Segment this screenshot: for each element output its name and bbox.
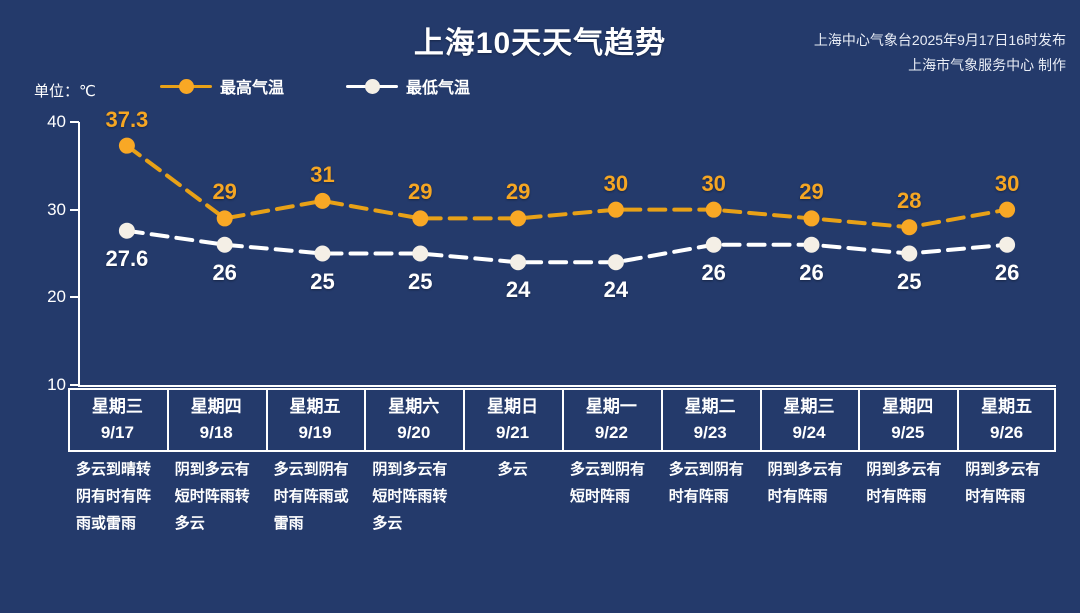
forecast-table-top-edge bbox=[68, 388, 1056, 390]
low-temp-line bbox=[127, 231, 1007, 263]
high-temp-value-label: 28 bbox=[897, 188, 921, 214]
low-temp-point bbox=[510, 254, 526, 270]
forecast-date: 9/24 bbox=[760, 420, 859, 446]
series-lines bbox=[0, 105, 1080, 405]
forecast-date: 9/18 bbox=[167, 420, 266, 446]
high-temp-point bbox=[608, 202, 624, 218]
forecast-description: 多云到阴有短时阵雨 bbox=[562, 456, 661, 510]
plot-area: 40302010 37.329312929303029283027.626252… bbox=[0, 105, 1080, 405]
low-temp-point bbox=[608, 254, 624, 270]
forecast-column-divider bbox=[562, 388, 564, 450]
publisher-producer-line: 上海市气象服务中心 制作 bbox=[814, 53, 1066, 78]
forecast-weekday: 星期三 bbox=[760, 394, 859, 420]
high-temp-line bbox=[127, 146, 1007, 228]
low-temp-point bbox=[901, 246, 917, 262]
high-temp-value-label: 31 bbox=[310, 162, 334, 188]
low-temp-value-label: 26 bbox=[799, 260, 823, 286]
forecast-column: 星期五9/26阴到多云有时有阵雨 bbox=[957, 388, 1056, 578]
forecast-column: 星期四9/18阴到多云有短时阵雨转多云 bbox=[167, 388, 266, 578]
low-temp-point bbox=[999, 237, 1015, 253]
forecast-description: 阴到多云有时有阵雨 bbox=[858, 456, 957, 510]
high-temp-value-label: 29 bbox=[799, 179, 823, 205]
legend-marker-high-icon bbox=[160, 78, 212, 94]
low-temp-value-label: 25 bbox=[897, 269, 921, 295]
forecast-date: 9/23 bbox=[661, 420, 760, 446]
legend-label-high: 最高气温 bbox=[220, 74, 284, 98]
forecast-date: 9/26 bbox=[957, 420, 1056, 446]
forecast-date: 9/25 bbox=[858, 420, 957, 446]
forecast-column: 星期五9/19多云到阴有时有阵雨或雷雨 bbox=[266, 388, 365, 578]
forecast-date: 9/17 bbox=[68, 420, 167, 446]
unit-label: 单位：℃ bbox=[34, 80, 96, 101]
high-temp-point bbox=[315, 193, 331, 209]
forecast-weekday: 星期日 bbox=[463, 394, 562, 420]
forecast-description: 多云到阴有时有阵雨或雷雨 bbox=[266, 456, 365, 537]
low-temp-point bbox=[412, 246, 428, 262]
high-temp-point bbox=[217, 210, 233, 226]
low-temp-value-label: 26 bbox=[701, 260, 725, 286]
forecast-column-divider bbox=[167, 388, 169, 450]
forecast-table: 星期三9/17多云到晴转阴有时有阵雨或雷雨星期四9/18阴到多云有短时阵雨转多云… bbox=[68, 388, 1056, 578]
forecast-table-header-bottom-edge bbox=[68, 450, 1056, 452]
forecast-weekday: 星期五 bbox=[266, 394, 365, 420]
forecast-column: 星期六9/20阴到多云有短时阵雨转多云 bbox=[364, 388, 463, 578]
forecast-description: 多云到阴有时有阵雨 bbox=[661, 456, 760, 510]
legend-item-high: 最高气温 bbox=[160, 74, 284, 98]
forecast-column-divider bbox=[463, 388, 465, 450]
high-temp-value-label: 30 bbox=[995, 171, 1019, 197]
forecast-weekday: 星期二 bbox=[661, 394, 760, 420]
forecast-column-divider bbox=[68, 388, 70, 450]
low-temp-value-label: 27.6 bbox=[105, 246, 148, 272]
publisher-info: 上海中心气象台2025年9月17日16时发布 上海市气象服务中心 制作 bbox=[814, 28, 1066, 78]
low-temp-value-label: 25 bbox=[310, 269, 334, 295]
forecast-column-divider bbox=[364, 388, 366, 450]
low-temp-value-label: 26 bbox=[212, 260, 236, 286]
forecast-column: 星期三9/17多云到晴转阴有时有阵雨或雷雨 bbox=[68, 388, 167, 578]
high-temp-point bbox=[804, 210, 820, 226]
forecast-column-divider bbox=[661, 388, 663, 450]
legend-item-low: 最低气温 bbox=[346, 74, 470, 98]
high-temp-point bbox=[510, 210, 526, 226]
high-temp-point bbox=[412, 210, 428, 226]
forecast-description: 多云到晴转阴有时有阵雨或雷雨 bbox=[68, 456, 167, 537]
forecast-description: 多云 bbox=[463, 456, 562, 483]
forecast-description: 阴到多云有时有阵雨 bbox=[957, 456, 1056, 510]
low-temp-value-label: 24 bbox=[604, 277, 628, 303]
publisher-issue-line: 上海中心气象台2025年9月17日16时发布 bbox=[814, 28, 1066, 53]
forecast-weekday: 星期六 bbox=[364, 394, 463, 420]
forecast-weekday: 星期四 bbox=[858, 394, 957, 420]
low-temp-value-label: 24 bbox=[506, 277, 530, 303]
low-temp-point bbox=[315, 246, 331, 262]
high-temp-point bbox=[901, 219, 917, 235]
forecast-column: 星期日9/21多云 bbox=[463, 388, 562, 578]
forecast-column-divider bbox=[858, 388, 860, 450]
forecast-date: 9/22 bbox=[562, 420, 661, 446]
weather-trend-chart: 上海10天天气趋势 上海中心气象台2025年9月17日16时发布 上海市气象服务… bbox=[0, 0, 1080, 613]
low-temp-point bbox=[804, 237, 820, 253]
forecast-description: 阴到多云有时有阵雨 bbox=[760, 456, 859, 510]
low-temp-point bbox=[119, 223, 135, 239]
low-temp-value-label: 25 bbox=[408, 269, 432, 295]
high-temp-value-label: 29 bbox=[506, 179, 530, 205]
forecast-column: 星期二9/23多云到阴有时有阵雨 bbox=[661, 388, 760, 578]
high-temp-point bbox=[706, 202, 722, 218]
high-temp-value-label: 29 bbox=[212, 179, 236, 205]
forecast-column-divider bbox=[760, 388, 762, 450]
forecast-weekday: 星期五 bbox=[957, 394, 1056, 420]
forecast-column: 星期三9/24阴到多云有时有阵雨 bbox=[760, 388, 859, 578]
high-temp-point bbox=[999, 202, 1015, 218]
forecast-column-divider bbox=[266, 388, 268, 450]
forecast-description: 阴到多云有短时阵雨转多云 bbox=[167, 456, 266, 537]
forecast-weekday: 星期一 bbox=[562, 394, 661, 420]
chart-legend: 最高气温 最低气温 bbox=[160, 74, 470, 98]
forecast-description: 阴到多云有短时阵雨转多云 bbox=[364, 456, 463, 537]
forecast-column: 星期四9/25阴到多云有时有阵雨 bbox=[858, 388, 957, 578]
high-temp-value-label: 30 bbox=[604, 171, 628, 197]
forecast-date: 9/21 bbox=[463, 420, 562, 446]
high-temp-value-label: 29 bbox=[408, 179, 432, 205]
low-temp-value-label: 26 bbox=[995, 260, 1019, 286]
low-temp-point bbox=[217, 237, 233, 253]
legend-label-low: 最低气温 bbox=[406, 74, 470, 98]
high-temp-value-label: 37.3 bbox=[105, 107, 148, 133]
high-temp-value-label: 30 bbox=[701, 171, 725, 197]
forecast-date: 9/20 bbox=[364, 420, 463, 446]
forecast-weekday: 星期四 bbox=[167, 394, 266, 420]
forecast-table-right-edge bbox=[1054, 388, 1056, 450]
forecast-date: 9/19 bbox=[266, 420, 365, 446]
legend-marker-low-icon bbox=[346, 78, 398, 94]
forecast-column: 星期一9/22多云到阴有短时阵雨 bbox=[562, 388, 661, 578]
high-temp-point bbox=[119, 138, 135, 154]
forecast-weekday: 星期三 bbox=[68, 394, 167, 420]
low-temp-point bbox=[706, 237, 722, 253]
forecast-column-divider bbox=[957, 388, 959, 450]
